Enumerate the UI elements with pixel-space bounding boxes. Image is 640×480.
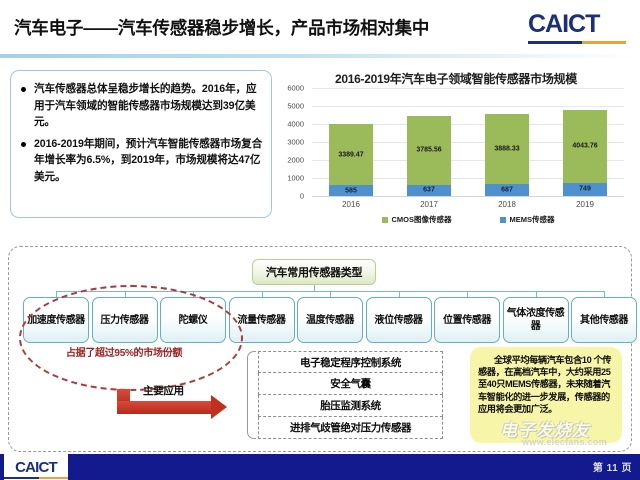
application-item-2[interactable]: 胎压监测系统 xyxy=(258,395,443,417)
bullet-text: 2016-2019年期间，预计汽车智能传感器市场复合年增长率为6.5%，到201… xyxy=(34,138,262,183)
market-share-label: 占据了超过95%的市场份额 xyxy=(49,347,199,360)
x-tick-label: 2019 xyxy=(563,200,607,209)
sensor-type-box-2[interactable]: 陀螺仪 xyxy=(160,297,226,343)
sensor-type-box-5[interactable]: 液位传感器 xyxy=(366,297,432,343)
page-title: 汽车电子——汽车传感器稳步增长，产品市场相对集中 xyxy=(14,15,429,40)
bullet-dot-icon xyxy=(21,87,26,92)
legend-label: CMOS图像传感器 xyxy=(392,214,452,225)
bar-segment-cmos: 3785.56 xyxy=(407,116,451,184)
sensor-type-box-8[interactable]: 其他传感器 xyxy=(571,297,637,343)
chart-plot-area: 6000500040003000200010000 3389.475853785… xyxy=(312,88,624,196)
y-tick-label: 1000 xyxy=(274,174,308,183)
application-item-3[interactable]: 进排气歧管绝对压力传感器 xyxy=(258,417,443,439)
bar-segment-cmos: 3888.33 xyxy=(485,114,529,184)
applications-list: 电子稳定程序控制系统安全气囊胎压监测系统进排气歧管绝对压力传感器 xyxy=(258,351,443,439)
page-number: 第 11 页 xyxy=(593,459,632,474)
chart-title: 2016-2019年汽车电子领域智能传感器市场规模 xyxy=(278,66,634,87)
y-tick-label: 3000 xyxy=(274,138,308,147)
slide-header: 汽车电子——汽车传感器稳步增长，产品市场相对集中 CAICT xyxy=(0,0,640,56)
x-tick-label: 2018 xyxy=(485,200,529,209)
footer-logo-text: CAICT xyxy=(15,459,57,476)
sensor-type-box-4[interactable]: 温度传感器 xyxy=(297,297,363,343)
list-item: 2016-2019年期间，预计汽车智能传感器市场复合年增长率为6.5%，到201… xyxy=(19,136,263,186)
bar-value-label: 585 xyxy=(329,187,373,194)
caict-logo: CAICT xyxy=(528,12,626,46)
slide-footer: CAICT 第 11 页 xyxy=(0,454,640,480)
application-item-0[interactable]: 电子稳定程序控制系统 xyxy=(258,351,443,373)
chart-bars: 3389.475853785.566373888.336874043.76749 xyxy=(312,88,624,196)
y-tick-label: 0 xyxy=(274,192,308,201)
note-callout: 全球平均每辆汽车包含10 个传感器，在高档汽车中，大约采用25至40只MEMS传… xyxy=(470,347,622,443)
bar-segment-mems: 749 xyxy=(563,183,607,196)
y-tick-label: 4000 xyxy=(274,120,308,129)
bar-group: 3785.56637 xyxy=(407,116,451,196)
main-application-arrow: 主要应用 xyxy=(117,389,247,423)
arrow-label: 主要应用 xyxy=(143,383,233,398)
bullet-text: 汽车传感器总体呈稳步增长的趋势。2016年，应用于汽车领域的智能传感器市场规模达… xyxy=(34,83,257,128)
arrow-stem xyxy=(117,401,213,414)
x-tick-label: 2016 xyxy=(329,200,373,209)
market-size-chart: 2016-2019年汽车电子领域智能传感器市场规模 60005000400030… xyxy=(278,66,634,234)
legend-item: MEMS传感器 xyxy=(500,214,555,225)
bar-group: 3888.33687 xyxy=(485,114,529,196)
bar-value-label: 637 xyxy=(407,187,451,194)
bar-segment-mems: 687 xyxy=(485,184,529,196)
chart-legend: CMOS图像传感器MEMS传感器 xyxy=(312,214,624,225)
bar-segment-mems: 637 xyxy=(407,185,451,196)
bar-value-label: 4043.76 xyxy=(563,143,607,150)
bar-segment-cmos: 3389.47 xyxy=(329,124,373,185)
sensor-type-box-7[interactable]: 气体浓度传感器 xyxy=(503,297,569,343)
footer-logo-underline xyxy=(4,477,68,480)
bar-group: 4043.76749 xyxy=(563,110,607,196)
legend-swatch xyxy=(382,217,388,223)
sensor-type-box-3[interactable]: 流量传感器 xyxy=(229,297,295,343)
legend-item: CMOS图像传感器 xyxy=(382,214,452,225)
sensor-types-title: 汽车常用传感器类型 xyxy=(252,259,376,285)
slide-root: 汽车电子——汽车传感器稳步增长，产品市场相对集中 CAICT 汽车传感器总体呈稳… xyxy=(0,0,640,480)
bar-value-label: 749 xyxy=(563,186,607,193)
bar-value-label: 3785.56 xyxy=(407,147,451,154)
list-item: 汽车传感器总体呈稳步增长的趋势。2016年，应用于汽车领域的智能传感器市场规模达… xyxy=(19,81,263,131)
legend-label: MEMS传感器 xyxy=(510,214,555,225)
x-tick-label: 2017 xyxy=(407,200,451,209)
sensor-type-row: 加速度传感器压力传感器陀螺仪流量传感器温度传感器液位传感器位置传感器气体浓度传感… xyxy=(9,297,633,345)
bar-value-label: 3888.33 xyxy=(485,145,529,152)
y-tick-label: 2000 xyxy=(274,156,308,165)
arrow-head-icon xyxy=(211,395,227,419)
applications-brace xyxy=(247,351,256,439)
sensor-type-box-1[interactable]: 压力传感器 xyxy=(92,297,158,343)
bar-value-label: 3389.47 xyxy=(329,151,373,158)
y-tick-label: 5000 xyxy=(274,102,308,111)
bullet-dot-icon xyxy=(21,142,26,147)
bar-segment-cmos: 4043.76 xyxy=(563,110,607,183)
bar-group: 3389.47585 xyxy=(329,124,373,196)
y-tick-label: 6000 xyxy=(274,84,308,93)
bar-segment-mems: 585 xyxy=(329,185,373,196)
bar-value-label: 687 xyxy=(485,186,529,193)
top-row: 汽车传感器总体呈稳步增长的趋势。2016年，应用于汽车领域的智能传感器市场规模达… xyxy=(0,62,640,242)
summary-card: 汽车传感器总体呈稳步增长的趋势。2016年，应用于汽车领域的智能传感器市场规模达… xyxy=(10,70,272,218)
sensor-types-panel: 汽车常用传感器类型 加速度传感器压力传感器陀螺仪流量传感器温度传感器液位传感器位… xyxy=(8,246,632,452)
header-divider xyxy=(0,54,640,58)
legend-swatch xyxy=(500,217,506,223)
summary-bullet-list: 汽车传感器总体呈稳步增长的趋势。2016年，应用于汽车领域的智能传感器市场规模达… xyxy=(11,71,271,185)
sensor-type-box-0[interactable]: 加速度传感器 xyxy=(23,297,89,343)
caict-logo-text: CAICT xyxy=(528,12,626,37)
application-item-1[interactable]: 安全气囊 xyxy=(258,373,443,395)
sensor-type-box-6[interactable]: 位置传感器 xyxy=(434,297,500,343)
chart-x-axis: 2016201720182019 xyxy=(312,196,624,210)
logo-underline xyxy=(528,41,626,44)
